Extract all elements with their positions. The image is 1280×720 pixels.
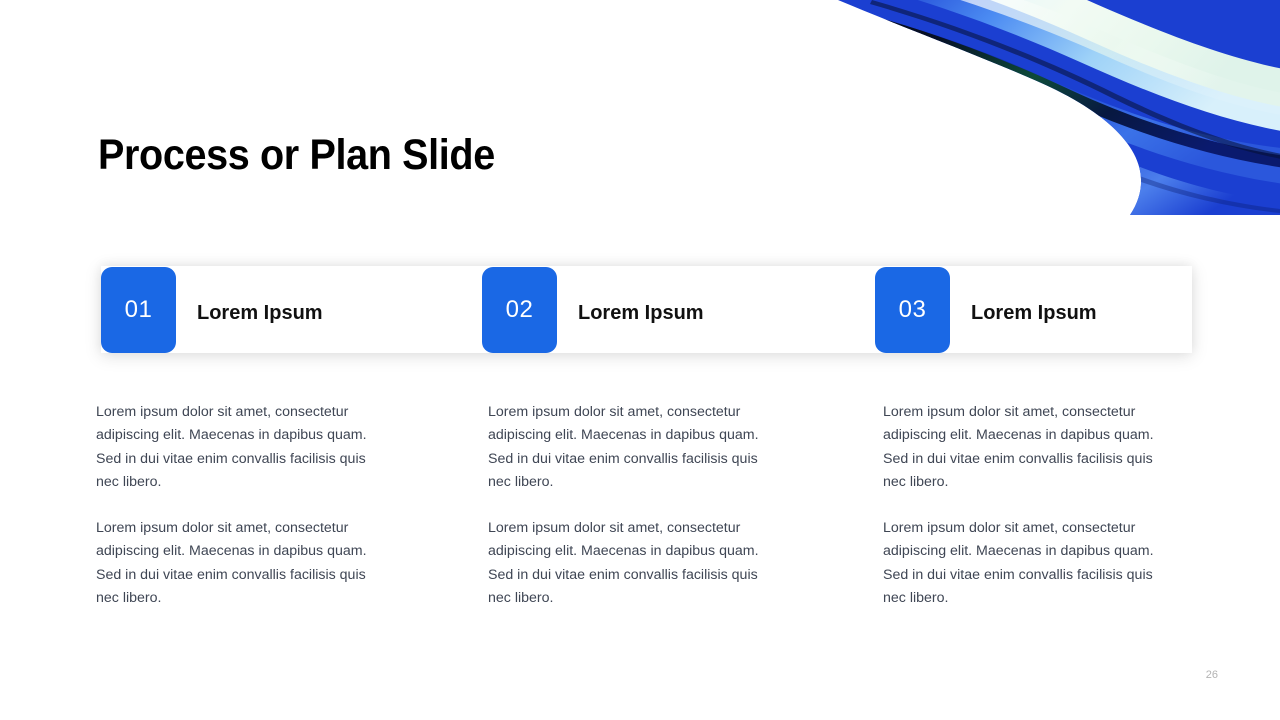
wave-band-upper	[830, 0, 1280, 134]
presentation-slide: Process or Plan Slide 01 Lorem Ipsum 02 …	[0, 0, 1280, 720]
wave-band-lower	[830, 36, 1280, 215]
column-2-paragraph-1: Lorem ipsum dolor sit amet, consectetur …	[488, 401, 780, 494]
content-column-1: Lorem ipsum dolor sit amet, consectetur …	[96, 401, 388, 610]
step-item-01[interactable]: 01 Lorem Ipsum	[101, 251, 323, 368]
wave-highlight-band	[830, 0, 1280, 110]
content-column-3: Lorem ipsum dolor sit amet, consectetur …	[883, 401, 1175, 610]
step-item-02[interactable]: 02 Lorem Ipsum	[482, 251, 704, 368]
abstract-blue-wave-decoration	[830, 0, 1280, 215]
page-number: 26	[1206, 669, 1218, 681]
step-label-01: Lorem Ipsum	[197, 302, 323, 325]
wave-band-mid	[830, 2, 1280, 186]
column-3-paragraph-1: Lorem ipsum dolor sit amet, consectetur …	[883, 401, 1175, 494]
column-2-paragraph-2: Lorem ipsum dolor sit amet, consectetur …	[488, 517, 780, 610]
content-column-2: Lorem ipsum dolor sit amet, consectetur …	[488, 401, 780, 610]
wave-svg	[830, 0, 1280, 215]
wave-streak-1	[870, 0, 1280, 162]
column-1-paragraph-2: Lorem ipsum dolor sit amet, consectetur …	[96, 517, 388, 610]
step-number-badge-01: 01	[101, 267, 176, 353]
steps-row: 01 Lorem Ipsum 02 Lorem Ipsum 03 Lorem I…	[101, 251, 1192, 368]
step-label-02: Lorem Ipsum	[578, 302, 704, 325]
wave-gloss	[840, 0, 1280, 118]
wave-dark-edge	[830, 0, 1280, 170]
column-1-paragraph-1: Lorem ipsum dolor sit amet, consectetur …	[96, 401, 388, 494]
wave-base-layer	[830, 0, 1280, 215]
step-item-03[interactable]: 03 Lorem Ipsum	[875, 251, 1097, 368]
step-number-badge-02: 02	[482, 267, 557, 353]
step-number-badge-03: 03	[875, 267, 950, 353]
step-label-03: Lorem Ipsum	[971, 302, 1097, 325]
column-3-paragraph-2: Lorem ipsum dolor sit amet, consectetur …	[883, 517, 1175, 610]
wave-streak-2	[836, 46, 1280, 214]
page-title: Process or Plan Slide	[98, 131, 495, 180]
